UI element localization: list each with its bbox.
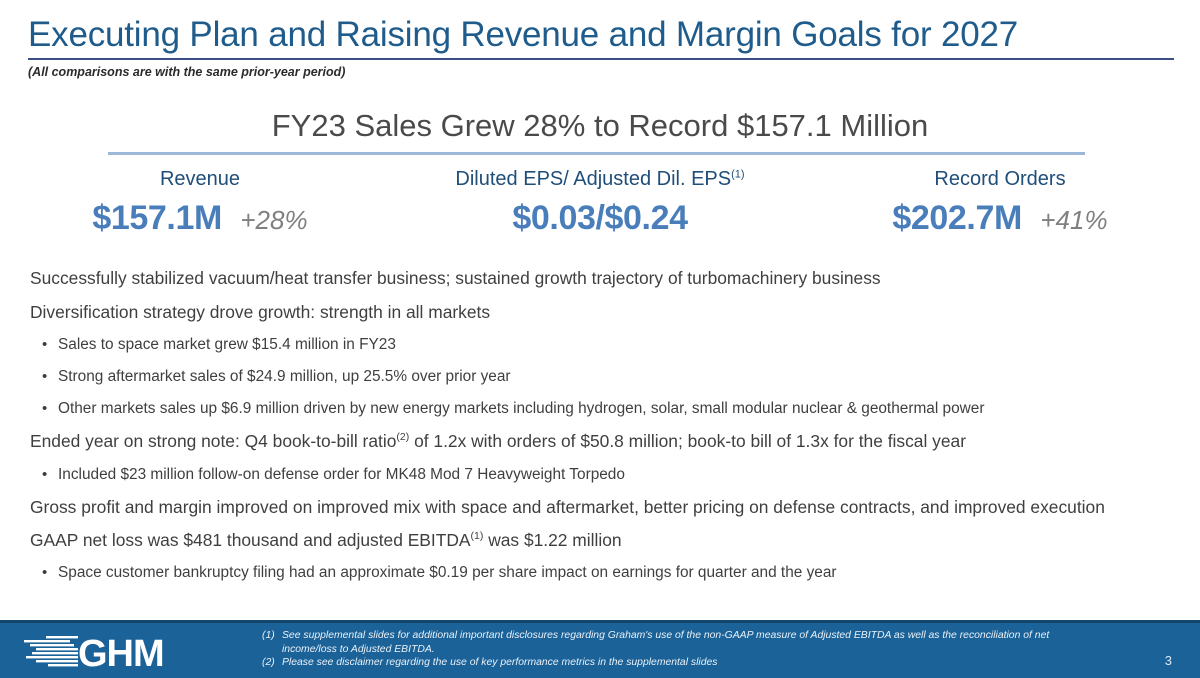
title-divider [28,58,1174,60]
body-bullet-2-text: Strong aftermarket sales of $24.9 millio… [58,368,511,385]
metric-eps-values: $0.03/$0.24 [400,198,800,245]
metric-orders-label-text: Record Orders [934,168,1065,190]
bullet-icon: • [42,463,47,486]
metrics-row: Revenue $157.1M +28% Diluted EPS/ Adjust… [0,166,1200,245]
bullet-icon: • [42,333,47,356]
metric-eps: Diluted EPS/ Adjusted Dil. EPS(1) $0.03/… [400,166,800,245]
metric-orders-values: $202.7M +41% [800,198,1200,245]
ghm-logo-icon: GHM [22,631,212,671]
headline-divider [108,152,1085,155]
body-bullet-1-text: Sales to space market grew $15.4 million… [58,336,396,353]
comparison-note: (All comparisons are with the same prior… [28,65,345,79]
body-line-5-part-a: GAAP net loss was $481 thousand and adju… [30,530,471,550]
metric-orders-delta: +41% [1040,205,1107,235]
footnote-2-text: Please see disclaimer regarding the use … [282,656,1062,670]
body-bullet-4-text: Included $23 million follow-on defense o… [58,466,625,483]
metric-orders-label: Record Orders [800,166,1200,192]
body-bullet-2: • Strong aftermarket sales of $24.9 mill… [30,365,1180,388]
body-bullet-1: • Sales to space market grew $15.4 milli… [30,333,1180,356]
body-line-3-footnote-ref: (2) [396,431,409,443]
body-line-4: Gross profit and margin improved on impr… [30,495,1180,520]
footnote-1-mark: (1) [262,629,282,643]
footer-bar: GHM (1) See supplemental slides for addi… [0,620,1200,678]
body-line-1: Successfully stabilized vacuum/heat tran… [30,266,1180,292]
body-line-5-footnote-ref: (1) [471,530,484,542]
slide: Executing Plan and Raising Revenue and M… [0,0,1200,675]
body-line-5: GAAP net loss was $481 thousand and adju… [30,528,1180,554]
headline-text: FY23 Sales Grew 28% to Record $157.1 Mil… [0,108,1200,144]
footnote-2-mark: (2) [262,656,282,670]
metric-revenue-label-text: Revenue [160,168,240,190]
metric-eps-label: Diluted EPS/ Adjusted Dil. EPS(1) [400,166,800,192]
metric-orders-value: $202.7M [892,199,1022,237]
ghm-logo: GHM [22,631,212,671]
metric-revenue-value: $157.1M [92,199,222,237]
page-number: 3 [1165,653,1172,668]
body-bullet-5: • Space customer bankruptcy filing had a… [30,561,1180,584]
page-title: Executing Plan and Raising Revenue and M… [28,14,1018,56]
body-line-3: Ended year on strong note: Q4 book-to-bi… [30,429,1180,455]
bullet-icon: • [42,561,47,584]
body-line-3-part-a: Ended year on strong note: Q4 book-to-bi… [30,431,396,451]
footnote-1: (1) See supplemental slides for addition… [262,629,1062,656]
metric-eps-label-text: Diluted EPS/ Adjusted Dil. EPS [455,168,731,190]
body-bullet-3-text: Other markets sales up $6.9 million driv… [58,400,984,417]
body-bullet-5-text: Space customer bankruptcy filing had an … [58,564,837,581]
body-bullet-4: • Included $23 million follow-on defense… [30,463,1180,486]
svg-text:GHM: GHM [78,633,164,671]
body-line-3-part-b: of 1.2x with orders of $50.8 million; bo… [409,431,966,451]
metric-revenue-values: $157.1M +28% [0,198,400,245]
bullet-icon: • [42,397,47,420]
body-line-2: Diversification strategy drove growth: s… [30,300,1180,326]
bullet-icon: • [42,365,47,388]
footnote-1-text: See supplemental slides for additional i… [282,629,1062,656]
metric-eps-value: $0.03/$0.24 [512,199,687,237]
body-bullet-3: • Other markets sales up $6.9 million dr… [30,397,1180,420]
metric-orders: Record Orders $202.7M +41% [800,166,1200,245]
body-content: Successfully stabilized vacuum/heat tran… [30,266,1180,593]
footnotes: (1) See supplemental slides for addition… [262,629,1062,670]
metric-revenue-delta: +28% [240,205,307,235]
metric-eps-footnote-ref: (1) [731,168,744,180]
footnote-2: (2) Please see disclaimer regarding the … [262,656,1062,670]
metric-revenue-label: Revenue [0,166,400,192]
body-line-5-part-b: was $1.22 million [483,530,621,550]
metric-revenue: Revenue $157.1M +28% [0,166,400,245]
